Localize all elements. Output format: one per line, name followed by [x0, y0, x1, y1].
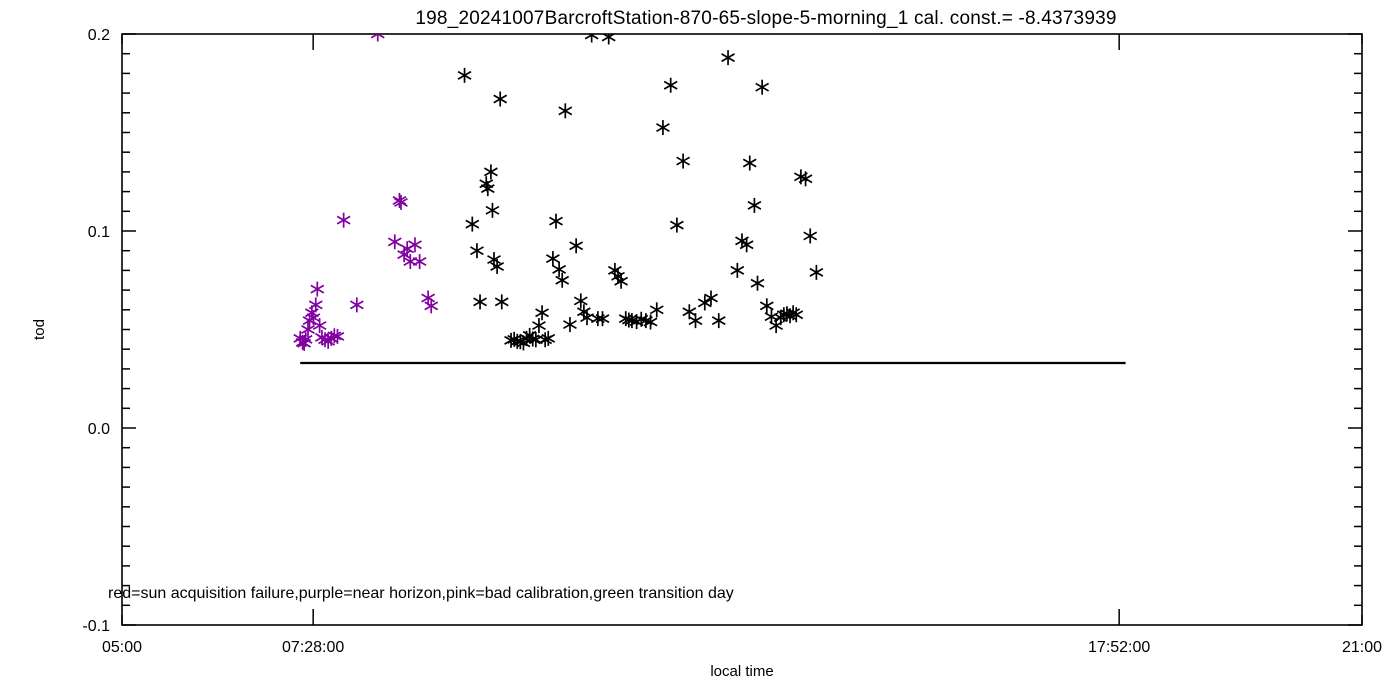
x-tick-label: 17:52:00 [1088, 639, 1150, 656]
data-point-nominal [470, 243, 483, 258]
data-point-nominal [650, 302, 663, 317]
y-tick-label: 0.1 [88, 224, 110, 241]
data-point-nominal [546, 251, 559, 266]
data-point-nominal [677, 154, 690, 169]
data-point-nominal [748, 198, 761, 213]
data-point-nominal [570, 238, 583, 253]
data-point-near-horizon [311, 282, 324, 297]
data-point-nominal [494, 92, 507, 107]
x-axis-label: local time [710, 663, 773, 680]
plot-canvas: 0.20.10.0-0.105:0007:28:0017:52:0021:001… [0, 0, 1400, 700]
data-point-nominal [602, 29, 615, 44]
y-tick-label: 0.0 [88, 421, 110, 438]
data-point-nominal [712, 313, 725, 328]
data-point-nominal [585, 27, 598, 42]
x-tick-label: 21:00 [1342, 639, 1382, 656]
data-point-nominal [532, 318, 545, 333]
y-tick-label: -0.1 [82, 618, 110, 635]
data-point-nominal [556, 273, 569, 288]
data-point-nominal [756, 80, 769, 95]
legend-annotation: red=sun acquisition failure,purple=near … [108, 585, 734, 602]
data-point-nominal [495, 294, 508, 309]
data-point-nominal [458, 68, 471, 83]
data-point-nominal [664, 78, 677, 93]
data-point-near-horizon [388, 234, 401, 249]
plot-title: 198_20241007BarcroftStation-870-65-slope… [415, 8, 1116, 29]
data-point-nominal [656, 120, 669, 135]
data-point-near-horizon [337, 213, 350, 228]
data-point-nominal [804, 228, 817, 243]
data-point-nominal [563, 317, 576, 332]
data-point-nominal [810, 265, 823, 280]
data-point-nominal [574, 293, 587, 308]
data-point-nominal [670, 218, 683, 233]
data-point-nominal [689, 313, 702, 328]
data-point-near-horizon [425, 298, 438, 313]
data-point-layer [294, 27, 823, 351]
data-point-nominal [553, 262, 566, 277]
y-tick-label: 0.2 [88, 27, 110, 44]
data-point-near-horizon [413, 254, 426, 269]
data-point-nominal [474, 294, 487, 309]
data-point-nominal [536, 305, 549, 320]
data-point-near-horizon [313, 318, 326, 333]
x-tick-label: 05:00 [102, 639, 142, 656]
data-point-nominal [559, 103, 572, 118]
y-axis-label: tod [31, 319, 48, 340]
data-point-nominal [743, 156, 756, 171]
scatter-plot-svg: 0.20.10.0-0.105:0007:28:0017:52:0021:001… [0, 0, 1400, 700]
data-point-nominal [481, 181, 494, 196]
data-point-near-horizon [350, 297, 363, 312]
x-tick-label: 07:28:00 [282, 639, 344, 656]
data-point-nominal [550, 214, 563, 229]
data-point-nominal [486, 203, 499, 218]
data-point-nominal [466, 217, 479, 232]
data-point-nominal [731, 263, 744, 278]
data-point-nominal [722, 50, 735, 65]
data-point-nominal [751, 276, 764, 291]
